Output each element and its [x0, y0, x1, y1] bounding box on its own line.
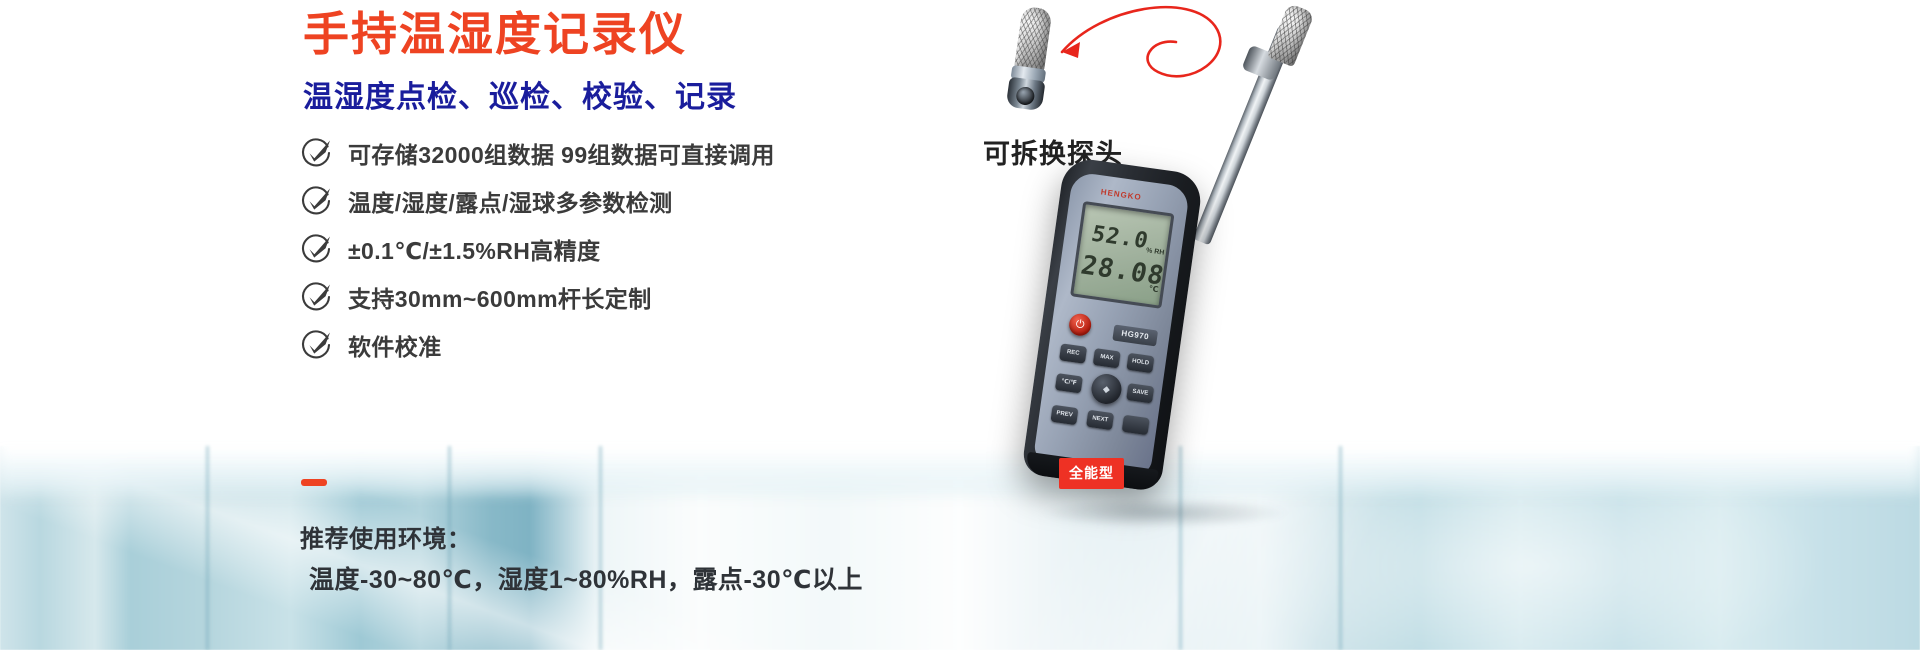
rec-button[interactable]: REC: [1059, 343, 1087, 363]
model-label: HG970: [1112, 325, 1158, 347]
list-item: 可存储32000组数据 99组数据可直接调用: [300, 130, 1020, 176]
menu-button[interactable]: SAVE: [1126, 383, 1154, 403]
list-item: ±0.1℃/±1.5%RH高精度: [300, 226, 1020, 272]
lcd-humidity-unit: % RH: [1146, 247, 1165, 256]
keypad: REC MAX HOLD ◆ ℃/℉ SAVE PREV NEXT: [1044, 343, 1162, 466]
prev-button[interactable]: PREV: [1050, 405, 1078, 425]
next-button[interactable]: NEXT: [1086, 410, 1114, 430]
check-circle-icon: [300, 233, 332, 265]
note-title: 推荐使用环境：: [300, 519, 472, 554]
status-badge: 全能型: [1059, 458, 1124, 489]
list-item: 温度/湿度/露点/湿球多参数检测: [300, 178, 1020, 224]
power-button[interactable]: ⏻: [1068, 312, 1093, 337]
accent-dash: [301, 479, 327, 486]
dpad-icon[interactable]: ◆: [1090, 372, 1124, 406]
background-mullion: [205, 446, 210, 650]
brand-logo: HENGKO: [1100, 187, 1142, 202]
meter-faceplate: HENGKO 52.0 % RH 28.08 ℃ ⏻ HG970 REC MAX…: [1033, 171, 1190, 477]
max-button[interactable]: MAX: [1093, 348, 1121, 368]
page-title: 手持温湿度记录仪: [303, 8, 687, 61]
list-item-label: 软件校准: [348, 328, 442, 362]
check-circle-icon: [300, 281, 332, 313]
background-mullion: [598, 446, 603, 650]
list-item-label: ±0.1℃/±1.5%RH高精度: [348, 232, 601, 266]
curved-arrow-icon: [1040, 0, 1260, 110]
list-item-label: 温度/湿度/露点/湿球多参数检测: [348, 184, 673, 218]
check-circle-icon: [300, 185, 332, 217]
extra-button[interactable]: [1122, 415, 1150, 435]
unit-button[interactable]: ℃/℉: [1055, 373, 1083, 393]
check-circle-icon: [300, 329, 332, 361]
note-body: 温度-30~80℃，湿度1~80%RH，露点-30℃以上: [309, 560, 863, 596]
page-subtitle: 温湿度点检、巡检、校验、记录: [303, 80, 737, 116]
lcd-display: 52.0 % RH 28.08 ℃: [1070, 201, 1174, 309]
list-item-label: 支持30mm~600mm杆长定制: [348, 280, 652, 314]
lcd-humidity-value: 52.0: [1089, 222, 1151, 254]
lcd-temperature-unit: ℃: [1148, 284, 1159, 294]
check-circle-icon: [300, 137, 332, 169]
list-item: 软件校准: [300, 322, 1020, 368]
background-mullion: [1338, 446, 1343, 650]
list-item: 支持30mm~600mm杆长定制: [300, 274, 1020, 320]
hold-button[interactable]: HOLD: [1126, 353, 1154, 373]
feature-list: 可存储32000组数据 99组数据可直接调用 温度/湿度/露点/湿球多参数检测 …: [300, 130, 1020, 370]
list-item-label: 可存储32000组数据 99组数据可直接调用: [348, 136, 775, 170]
product-banner: 手持温湿度记录仪 温湿度点检、巡检、校验、记录 可存储32000组数据 99组数…: [0, 0, 1920, 650]
background-blend: [0, 404, 1920, 496]
